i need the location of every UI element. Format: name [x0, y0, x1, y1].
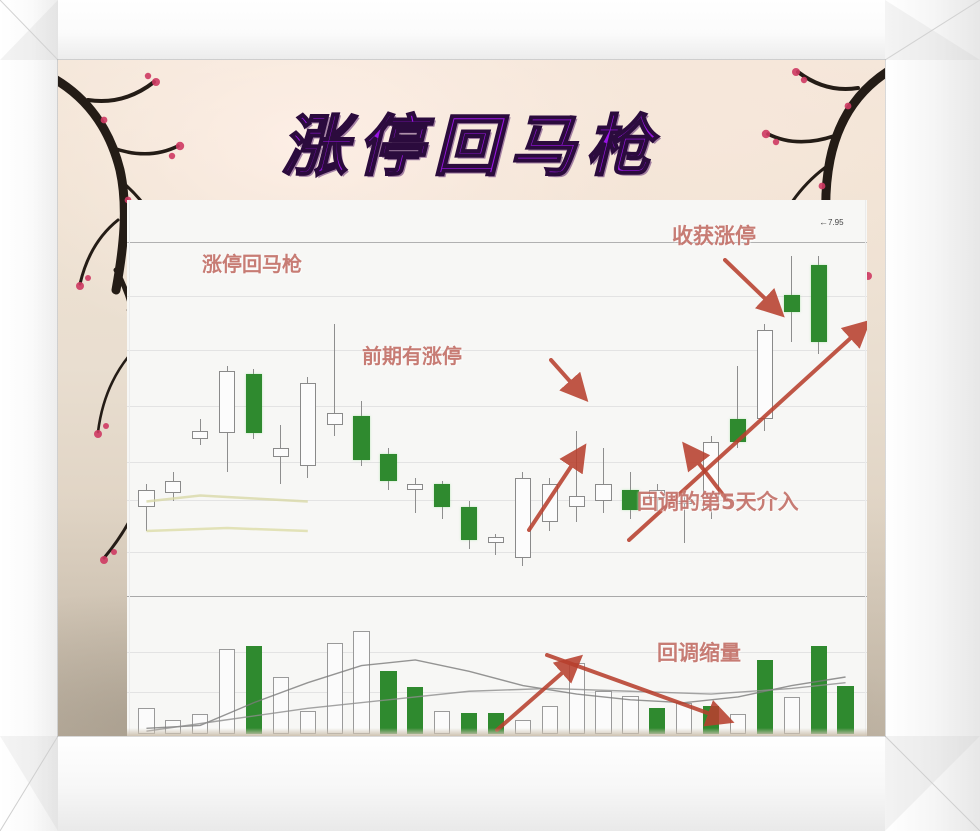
annotation-arrows	[127, 200, 867, 736]
frame-bevel-right	[885, 0, 980, 831]
annotation-harvest-limit-up: 收获涨停	[672, 220, 756, 250]
frame-miter-top-left	[0, 0, 58, 60]
annotation-enter-day-5: 回调的第5天介入	[637, 486, 799, 516]
arrow-day5-left	[529, 450, 582, 530]
frame-miter-top-right	[885, 0, 980, 60]
price-axis-tag: ←7.95	[819, 217, 844, 227]
arrow-earlier	[551, 360, 583, 396]
arrow-vol-up	[497, 660, 577, 730]
annotation-earlier-limit-up: 前期有涨停	[362, 340, 462, 369]
annotation-pullback-gun: 涨停回马枪	[202, 248, 302, 277]
stock-chart-screenshot: 涨停回马枪前期有涨停收获涨停回调的第5天介入回调缩量 ←7.95	[127, 200, 867, 736]
picture-frame: 涨停回马枪 涨停回马枪前期有涨停收获涨停回调的第5天介入回调缩量 ←7.95	[0, 0, 980, 831]
frame-miter-bottom-right	[885, 736, 980, 831]
arrow-harvest	[725, 260, 779, 312]
artwork-canvas: 涨停回马枪 涨停回马枪前期有涨停收获涨停回调的第5天介入回调缩量 ←7.95	[58, 60, 885, 736]
frame-miter-bottom-left	[0, 736, 58, 831]
frame-bevel-left	[0, 0, 58, 831]
frame-bevel-top	[0, 0, 980, 60]
frame-bevel-bottom	[0, 736, 980, 831]
annotation-shrinking-volume: 回调缩量	[657, 637, 741, 667]
page-title: 涨停回马枪	[58, 93, 885, 189]
